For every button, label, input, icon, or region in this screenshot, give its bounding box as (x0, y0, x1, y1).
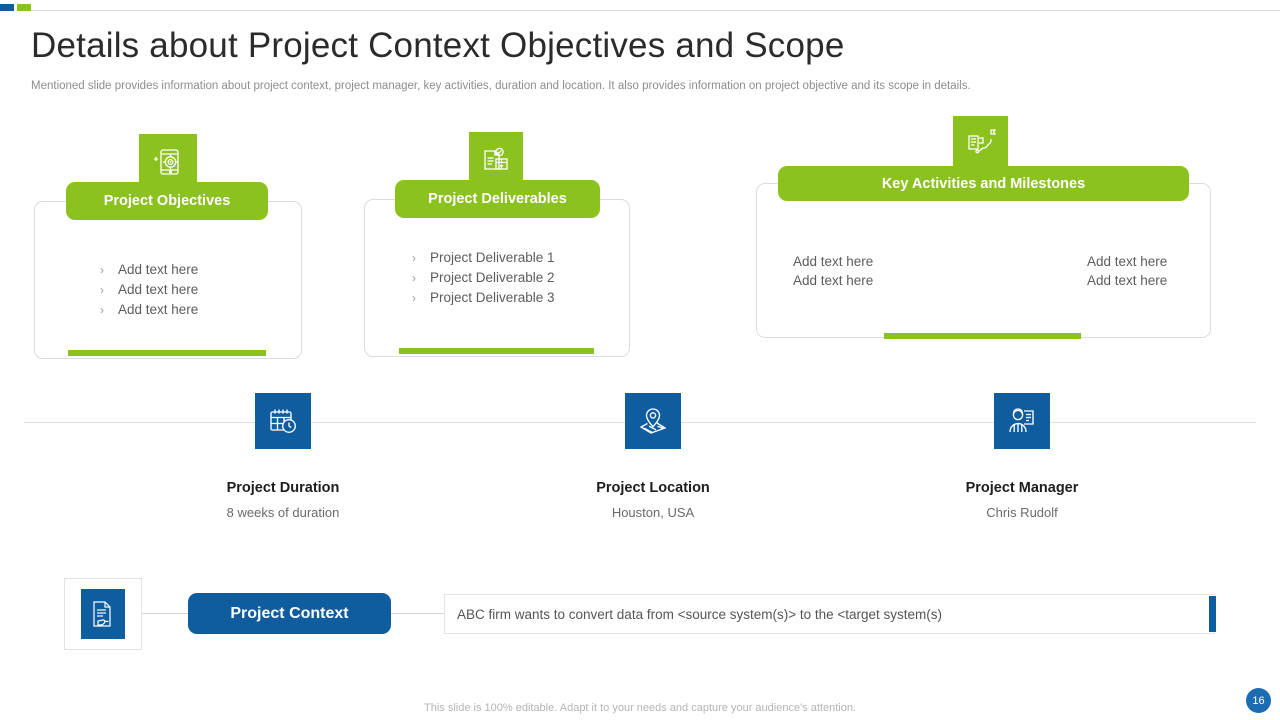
list-item: › Project Deliverable 2 (412, 269, 555, 286)
project-context-label: Project Context (188, 593, 391, 634)
list-item: › Add text here (100, 281, 198, 298)
card-title-key-activities: Key Activities and Milestones (778, 166, 1189, 201)
chevron-right-icon: › (412, 291, 430, 305)
context-accent-bar (1209, 596, 1216, 632)
list-item-label: Add text here (118, 301, 198, 318)
info-project-location: Project Location Houston, USA (553, 393, 753, 520)
chevron-right-icon: › (412, 271, 430, 285)
project-context-icon-frame (64, 578, 142, 650)
list-item-label: Add text here (118, 261, 198, 278)
list-item: › Add text here (100, 261, 198, 278)
key-activities-right-column: Add text here Add text here (1087, 253, 1167, 290)
roadmap-flag-icon (953, 116, 1008, 169)
footer-note: This slide is 100% editable. Adapt it to… (0, 702, 1280, 714)
card-underbar-deliverables (399, 348, 594, 354)
list-item: › Add text here (100, 301, 198, 318)
contract-hand-icon (81, 589, 125, 639)
info-title: Project Manager (922, 480, 1122, 496)
chevron-right-icon: › (100, 263, 118, 277)
key-activities-left-column: Add text here Add text here (793, 253, 873, 290)
key-activity-line: Add text here (793, 272, 873, 291)
header-divider (31, 10, 1280, 11)
list-item: › Project Deliverable 3 (412, 289, 555, 306)
key-activity-line: Add text here (793, 253, 873, 272)
person-document-icon (994, 393, 1050, 449)
chevron-right-icon: › (100, 303, 118, 317)
page-number-badge: 16 (1246, 688, 1271, 713)
bullet-list-deliverables: › Project Deliverable 1 › Project Delive… (412, 249, 555, 309)
accent-bar-green (17, 4, 31, 11)
project-context-textbox[interactable]: ABC firm wants to convert data from <sou… (444, 594, 1215, 634)
list-item-label: Project Deliverable 2 (430, 269, 555, 286)
page-subtitle: Mentioned slide provides information abo… (31, 80, 971, 92)
info-value: 8 weeks of duration (183, 505, 383, 520)
card-title-objectives: Project Objectives (66, 182, 268, 220)
info-title: Project Location (553, 480, 753, 496)
bullet-list-objectives: › Add text here › Add text here › Add te… (100, 261, 198, 321)
card-title-deliverables: Project Deliverables (395, 180, 600, 218)
key-activity-line: Add text here (1087, 272, 1167, 291)
chevron-right-icon: › (100, 283, 118, 297)
info-title: Project Duration (183, 480, 383, 496)
list-item-label: Project Deliverable 3 (430, 289, 555, 306)
project-context-text: ABC firm wants to convert data from <sou… (457, 607, 942, 622)
document-package-icon (469, 132, 523, 186)
card-underbar-objectives (68, 350, 266, 356)
info-value: Houston, USA (553, 505, 753, 520)
list-item-label: Add text here (118, 281, 198, 298)
info-project-duration: Project Duration 8 weeks of duration (183, 393, 383, 520)
context-connector-right (391, 613, 444, 614)
card-underbar-key-activities (884, 333, 1081, 339)
calendar-clock-icon (255, 393, 311, 449)
info-value: Chris Rudolf (922, 505, 1122, 520)
list-item: › Project Deliverable 1 (412, 249, 555, 266)
chevron-right-icon: › (412, 251, 430, 265)
page-title: Details about Project Context Objectives… (31, 26, 845, 66)
context-connector-left (142, 613, 189, 614)
key-activity-line: Add text here (1087, 253, 1167, 272)
info-project-manager: Project Manager Chris Rudolf (922, 393, 1122, 520)
list-item-label: Project Deliverable 1 (430, 249, 555, 266)
accent-bar-blue (0, 4, 14, 11)
map-pin-icon (625, 393, 681, 449)
